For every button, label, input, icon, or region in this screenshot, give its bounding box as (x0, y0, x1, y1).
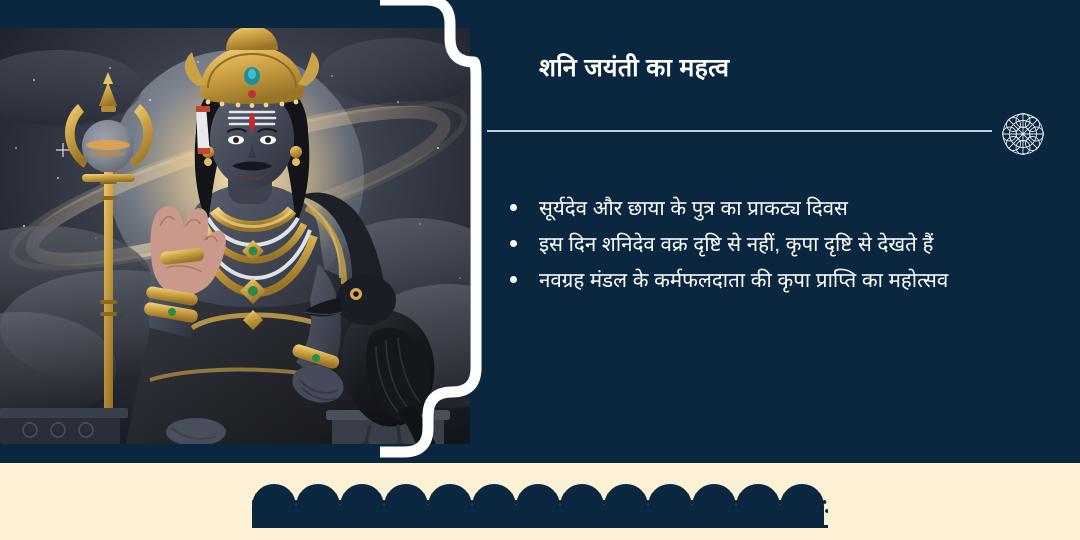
horizontal-rule (487, 130, 992, 132)
list-item-text: सूर्यदेव और छाया के पुत्र का प्राकट्य दि… (539, 197, 848, 220)
mandala-rosette-icon (995, 106, 1051, 162)
key-points-list: सूर्यदेव और छाया के पुत्र का प्राकट्य दि… (507, 192, 1047, 300)
list-item-text: नवग्रह मंडल के कर्मफलदाता की कृपा प्राप्… (539, 269, 948, 292)
bullet-dot-icon (510, 204, 517, 211)
list-item-text: इस दिन शनिदेव वक्र दृष्टि से नहीं, कृपा … (539, 233, 933, 256)
slide-canvas: शनि जयंती का महत्व (0, 0, 1080, 540)
list-item: इस दिन शनिदेव वक्र दृष्टि से नहीं, कृपा … (507, 228, 1047, 261)
scalloped-arch-border (252, 472, 828, 528)
bullet-dot-icon (510, 276, 517, 283)
photo-frame-border (380, 0, 490, 460)
bullet-dot-icon (510, 240, 517, 247)
page-title: शनि जयंती का महत्व (539, 50, 729, 84)
list-item: सूर्यदेव और छाया के पुत्र का प्राकट्य दि… (507, 192, 1047, 225)
list-item: नवग्रह मंडल के कर्मफलदाता की कृपा प्राप्… (507, 264, 1047, 297)
divider-row (487, 118, 1053, 166)
content-column: शनि जयंती का महत्व (487, 0, 1080, 463)
